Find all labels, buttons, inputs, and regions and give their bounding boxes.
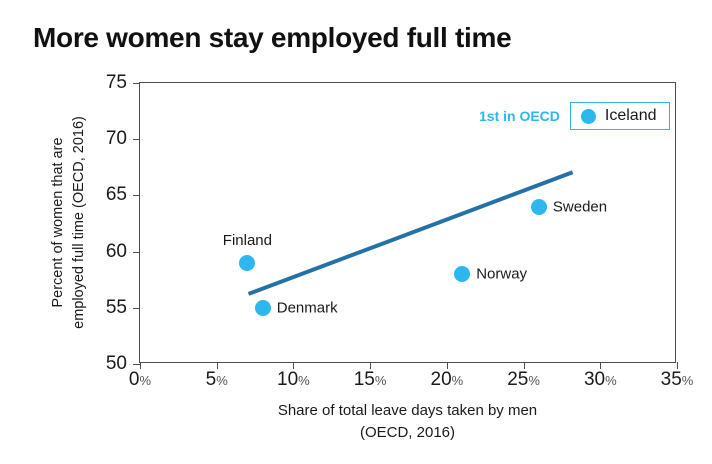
legend: 1st in OECD Iceland xyxy=(479,102,670,130)
data-point-label-norway: Norway xyxy=(476,266,527,283)
legend-annotation: 1st in OECD xyxy=(479,108,560,124)
y-tick-mark xyxy=(133,252,140,253)
x-tick-label: 30% xyxy=(584,369,617,391)
y-tick-label: 60 xyxy=(106,241,127,263)
y-axis-title-line2: employed full time (OECD, 2016) xyxy=(71,116,87,329)
x-tick-mark xyxy=(600,362,601,369)
x-tick-suffix: % xyxy=(216,373,228,388)
y-tick-mark xyxy=(133,195,140,196)
data-point-label-denmark: Denmark xyxy=(277,299,338,316)
x-tick-label: 35% xyxy=(661,369,694,391)
x-tick-mark xyxy=(677,362,678,369)
x-tick-suffix: % xyxy=(682,373,694,388)
x-tick-suffix: % xyxy=(375,373,387,388)
data-point-label-sweden: Sweden xyxy=(553,198,607,215)
y-tick-label: 70 xyxy=(106,128,127,150)
x-tick-value: 35 xyxy=(661,369,682,390)
data-point-denmark[interactable] xyxy=(255,300,271,316)
x-tick-mark xyxy=(140,362,141,369)
legend-item-iceland[interactable]: Iceland xyxy=(570,102,670,130)
page-title: More women stay employed full time xyxy=(33,22,511,54)
data-point-finland[interactable] xyxy=(239,255,255,271)
x-tick-suffix: % xyxy=(452,373,464,388)
y-tick-mark xyxy=(133,139,140,140)
x-tick-value: 25 xyxy=(507,369,528,390)
x-tick-label: 20% xyxy=(431,369,464,391)
x-tick-label: 5% xyxy=(206,369,228,391)
x-tick-mark xyxy=(524,362,525,369)
y-tick-mark xyxy=(133,364,140,365)
legend-swatch-icon xyxy=(581,109,596,124)
y-axis-title-line1: Percent of women that are xyxy=(50,137,66,307)
x-tick-value: 0 xyxy=(129,369,140,390)
x-tick-mark xyxy=(370,362,371,369)
x-tick-value: 20 xyxy=(431,369,452,390)
x-axis-title-line1: Share of total leave days taken by men xyxy=(278,402,537,419)
x-tick-suffix: % xyxy=(605,373,617,388)
x-tick-value: 5 xyxy=(206,369,217,390)
x-tick-mark xyxy=(217,362,218,369)
x-axis-title: Share of total leave days taken by men (… xyxy=(139,400,676,444)
x-tick-value: 30 xyxy=(584,369,605,390)
data-point-norway[interactable] xyxy=(454,266,470,282)
y-tick-label: 55 xyxy=(106,297,127,319)
y-tick-mark xyxy=(133,308,140,309)
x-tick-label: 10% xyxy=(277,369,310,391)
x-tick-suffix: % xyxy=(140,373,152,388)
y-tick-label: 65 xyxy=(106,184,127,206)
data-point-label-finland: Finland xyxy=(223,232,272,249)
legend-item-label: Iceland xyxy=(605,107,657,125)
y-axis-title: Percent of women that are employed full … xyxy=(46,82,92,363)
x-tick-suffix: % xyxy=(528,373,540,388)
x-tick-label: 25% xyxy=(507,369,540,391)
y-tick-label: 75 xyxy=(106,72,127,94)
x-tick-value: 15 xyxy=(354,369,375,390)
x-tick-value: 10 xyxy=(277,369,298,390)
x-tick-label: 0% xyxy=(129,369,151,391)
y-tick-label: 50 xyxy=(106,353,127,375)
x-tick-mark xyxy=(293,362,294,369)
x-tick-label: 15% xyxy=(354,369,387,391)
x-tick-mark xyxy=(447,362,448,369)
x-axis-title-line2: (OECD, 2016) xyxy=(360,424,455,441)
y-tick-mark xyxy=(133,83,140,84)
trend-line xyxy=(249,172,573,294)
data-point-sweden[interactable] xyxy=(531,199,547,215)
x-tick-suffix: % xyxy=(298,373,310,388)
